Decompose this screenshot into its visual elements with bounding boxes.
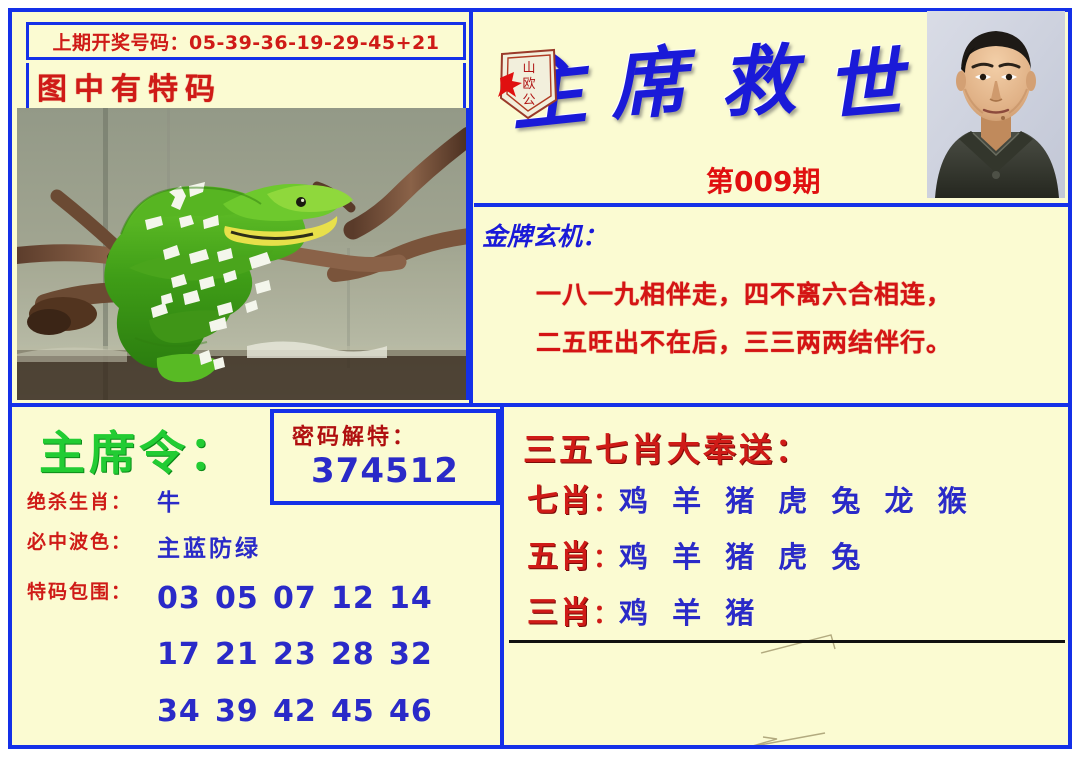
svg-text:山: 山 [522, 61, 535, 76]
poster-title: 主 席 救 世 [504, 42, 934, 160]
number-cell: 03 [157, 581, 215, 616]
divider-main-horizontal [12, 403, 1068, 407]
number-cell: 42 [273, 694, 331, 729]
number-cell: 14 [389, 581, 447, 616]
zodiac-row-three: 三肖：鸡 羊 猪 [527, 587, 761, 632]
zodiac-colon: ： [593, 544, 619, 574]
number-cell: 32 [389, 637, 447, 672]
zodiac-colon: ： [593, 488, 619, 518]
image-hint-banner: 图中有特码 [26, 63, 466, 108]
number-cell: 34 [157, 694, 215, 729]
title-seal-icon: 山 欧 公 [498, 48, 560, 122]
oracle-panel: 金牌玄机： 一八一九相伴走，四不离六合相连， 二五旺出不在后，三三两两结伴行。 [474, 209, 1068, 403]
zodiac-panel-title: 三五七肖大奉送： [523, 423, 811, 471]
mao-portrait-illustration [927, 11, 1065, 198]
zodiac-row-seven: 七肖：鸡 羊 猪 虎 兔 龙 猴 [527, 475, 974, 520]
watermark-scribble-top [685, 631, 885, 671]
secret-code-box: 密码解特： 374512 [270, 409, 500, 505]
zodiac-panel: 三五七肖大奉送： 七肖：鸡 羊 猪 虎 兔 龙 猴 五肖：鸡 羊 猪 虎 兔 三… [505, 409, 1068, 745]
zodiac-row-five: 五肖：鸡 羊 猪 虎 兔 [527, 531, 867, 576]
zodiac-count-label: 五肖 [527, 539, 593, 575]
kill-zodiac-label: 绝杀生肖： [27, 487, 132, 514]
number-cell: 28 [331, 637, 389, 672]
zodiac-animals-list: 鸡 羊 猪 虎 兔 龙 猴 [619, 484, 974, 518]
image-hint-text: 图中有特码 [37, 64, 222, 108]
oracle-line-2: 二五旺出不在后，三三两两结伴行。 [536, 323, 952, 359]
divider-title-oracle [474, 203, 1068, 207]
wave-color-value: 主蓝防绿 [157, 529, 261, 563]
zodiac-count-label: 七肖 [527, 483, 593, 519]
number-cell: 17 [157, 637, 215, 672]
last-draw-numbers-text: 上期开奖号码：05-39-36-19-29-45+21 [53, 28, 440, 55]
number-cell: 07 [273, 581, 331, 616]
number-cell: 46 [389, 694, 447, 729]
oracle-title: 金牌玄机： [482, 217, 607, 253]
number-cell: 12 [331, 581, 389, 616]
wave-color-label: 必中波色： [27, 527, 132, 554]
number-row-1: 0305071214 [157, 581, 447, 616]
divider-bottom-edge [12, 745, 1068, 749]
number-cell: 45 [331, 694, 389, 729]
kill-zodiac-value: 牛 [157, 483, 183, 517]
zodiac-animals-list: 鸡 羊 猪 [619, 596, 761, 630]
oracle-line-1: 一八一九相伴走，四不离六合相连， [536, 275, 952, 311]
title-char-2: 席 [607, 43, 688, 124]
divider-photo-right [469, 108, 473, 403]
mao-portrait [927, 11, 1065, 198]
zodiac-count-label: 三肖 [527, 595, 593, 631]
divider-bottom-vertical [500, 403, 504, 745]
poster-root: 上期开奖号码：05-39-36-19-29-45+21 图中有特码 [0, 0, 1080, 764]
number-row-3: 3439424546 [157, 694, 447, 729]
svg-text:欧: 欧 [522, 77, 535, 92]
title-char-4: 世 [823, 45, 905, 127]
snake-photo-illustration [17, 108, 469, 400]
number-cell: 39 [215, 694, 273, 729]
number-cell: 23 [273, 637, 331, 672]
number-cell: 21 [215, 637, 273, 672]
title-char-3: 救 [718, 42, 798, 122]
snake-photo [17, 108, 469, 400]
last-draw-numbers-bar: 上期开奖号码：05-39-36-19-29-45+21 [26, 22, 466, 60]
issue-label: 第009期 [706, 160, 820, 200]
zodiac-animals-list: 鸡 羊 猪 虎 兔 [619, 540, 867, 574]
number-row-2: 1721232832 [157, 637, 447, 672]
zodiac-bottom-rule [509, 640, 1065, 643]
svg-text:公: 公 [522, 93, 535, 108]
encircle-numbers-label: 特码包围： [27, 577, 132, 604]
watermark-scribble-bottom [685, 727, 885, 757]
secret-code-title: 密码解特： [292, 419, 417, 451]
zodiac-colon: ： [593, 600, 619, 630]
secret-code-value: 374512 [274, 451, 496, 491]
number-cell: 05 [215, 581, 273, 616]
divider-header-right [469, 12, 473, 108]
chairman-order-title: 主席令： [39, 417, 239, 483]
